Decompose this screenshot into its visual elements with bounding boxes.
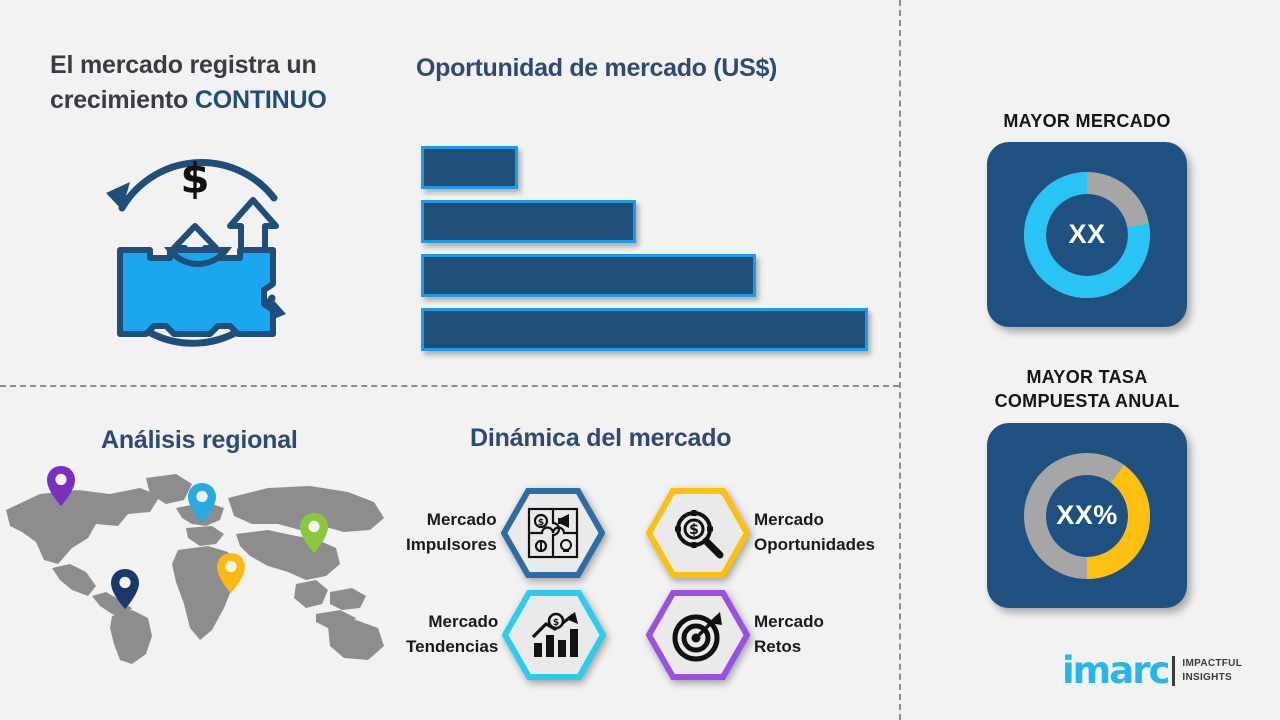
dynamics-item-opportunities[interactable]: $ Mercado Oportunidades xyxy=(646,487,875,579)
infographic-canvas: El mercado registra un crecimiento CONTI… xyxy=(0,0,1280,720)
kpi-largest-market-card: XX xyxy=(987,142,1187,327)
bar-row xyxy=(421,308,868,351)
hexagon-drivers[interactable]: $ xyxy=(501,487,605,579)
hexagon-trends[interactable]: $ xyxy=(502,589,606,681)
horizontal-divider xyxy=(0,385,899,387)
regional-analysis-title: Análisis regional xyxy=(101,426,298,455)
dynamics-item-drivers-label: Mercado Impulsores xyxy=(406,508,497,557)
market-opportunity-title: Oportunidad de mercado (US$) xyxy=(416,54,777,83)
bar-row xyxy=(421,254,756,297)
market-opportunity-bar-chart xyxy=(421,146,881,351)
headline-line-1: El mercado registra un xyxy=(50,51,317,79)
logo-separator xyxy=(1172,656,1175,686)
kpi-highest-cagr-value: XX% xyxy=(1056,500,1118,531)
hexagon-opportunities[interactable]: $ xyxy=(646,487,750,579)
pin-europe xyxy=(187,482,217,524)
headline-line-2-plain: crecimiento xyxy=(50,86,195,114)
pin-middle-east-africa xyxy=(216,552,246,594)
dynamics-item-opportunities-label: Mercado Oportunidades xyxy=(754,508,875,557)
bar-chart-growth-icon: $ xyxy=(526,607,582,663)
magnifier-dollar-icon: $ xyxy=(670,505,726,561)
svg-text:$: $ xyxy=(553,618,559,628)
svg-text:$: $ xyxy=(538,518,544,528)
bar-row xyxy=(421,146,518,189)
growth-gear-arrows-icon: $ xyxy=(78,138,313,368)
kpi-largest-market-title: MAYOR MERCADO xyxy=(947,110,1227,134)
target-arrow-icon xyxy=(670,607,726,663)
pin-north-america xyxy=(46,465,76,507)
dynamics-item-trends[interactable]: Mercado Tendencias $ xyxy=(406,589,606,681)
market-dynamics-title: Dinámica del mercado xyxy=(470,424,731,453)
puzzle-pieces-icon: $ xyxy=(525,505,581,561)
headline-line-2-accent: CONTINUO xyxy=(195,86,327,114)
kpi-largest-market-value: XX xyxy=(1068,219,1105,250)
dollar-sign-label: $ xyxy=(180,154,209,203)
logo-wordmark: imarc xyxy=(1062,652,1168,689)
world-map xyxy=(0,468,400,668)
pin-south-america xyxy=(110,568,140,610)
dynamics-item-challenges[interactable]: Mercado Retos xyxy=(646,589,824,681)
dynamics-item-drivers[interactable]: Mercado Impulsores $ xyxy=(406,487,605,579)
dynamics-item-trends-label: Mercado Tendencias xyxy=(406,610,498,659)
bar-row xyxy=(421,200,636,243)
logo-tagline: IMPACTFUL INSIGHTS xyxy=(1182,657,1242,684)
pin-asia xyxy=(299,512,329,554)
dynamics-item-challenges-label: Mercado Retos xyxy=(754,610,824,659)
svg-text:$: $ xyxy=(689,522,699,538)
kpi-highest-cagr-title: MAYOR TASA COMPUESTA ANUAL xyxy=(947,366,1227,414)
kpi-highest-cagr-card: XX% xyxy=(987,423,1187,608)
headline-title: El mercado registra un crecimiento CONTI… xyxy=(50,48,410,117)
hexagon-challenges[interactable] xyxy=(646,589,750,681)
vertical-divider xyxy=(899,0,901,720)
imarc-logo: imarc IMPACTFUL INSIGHTS xyxy=(1062,652,1242,689)
